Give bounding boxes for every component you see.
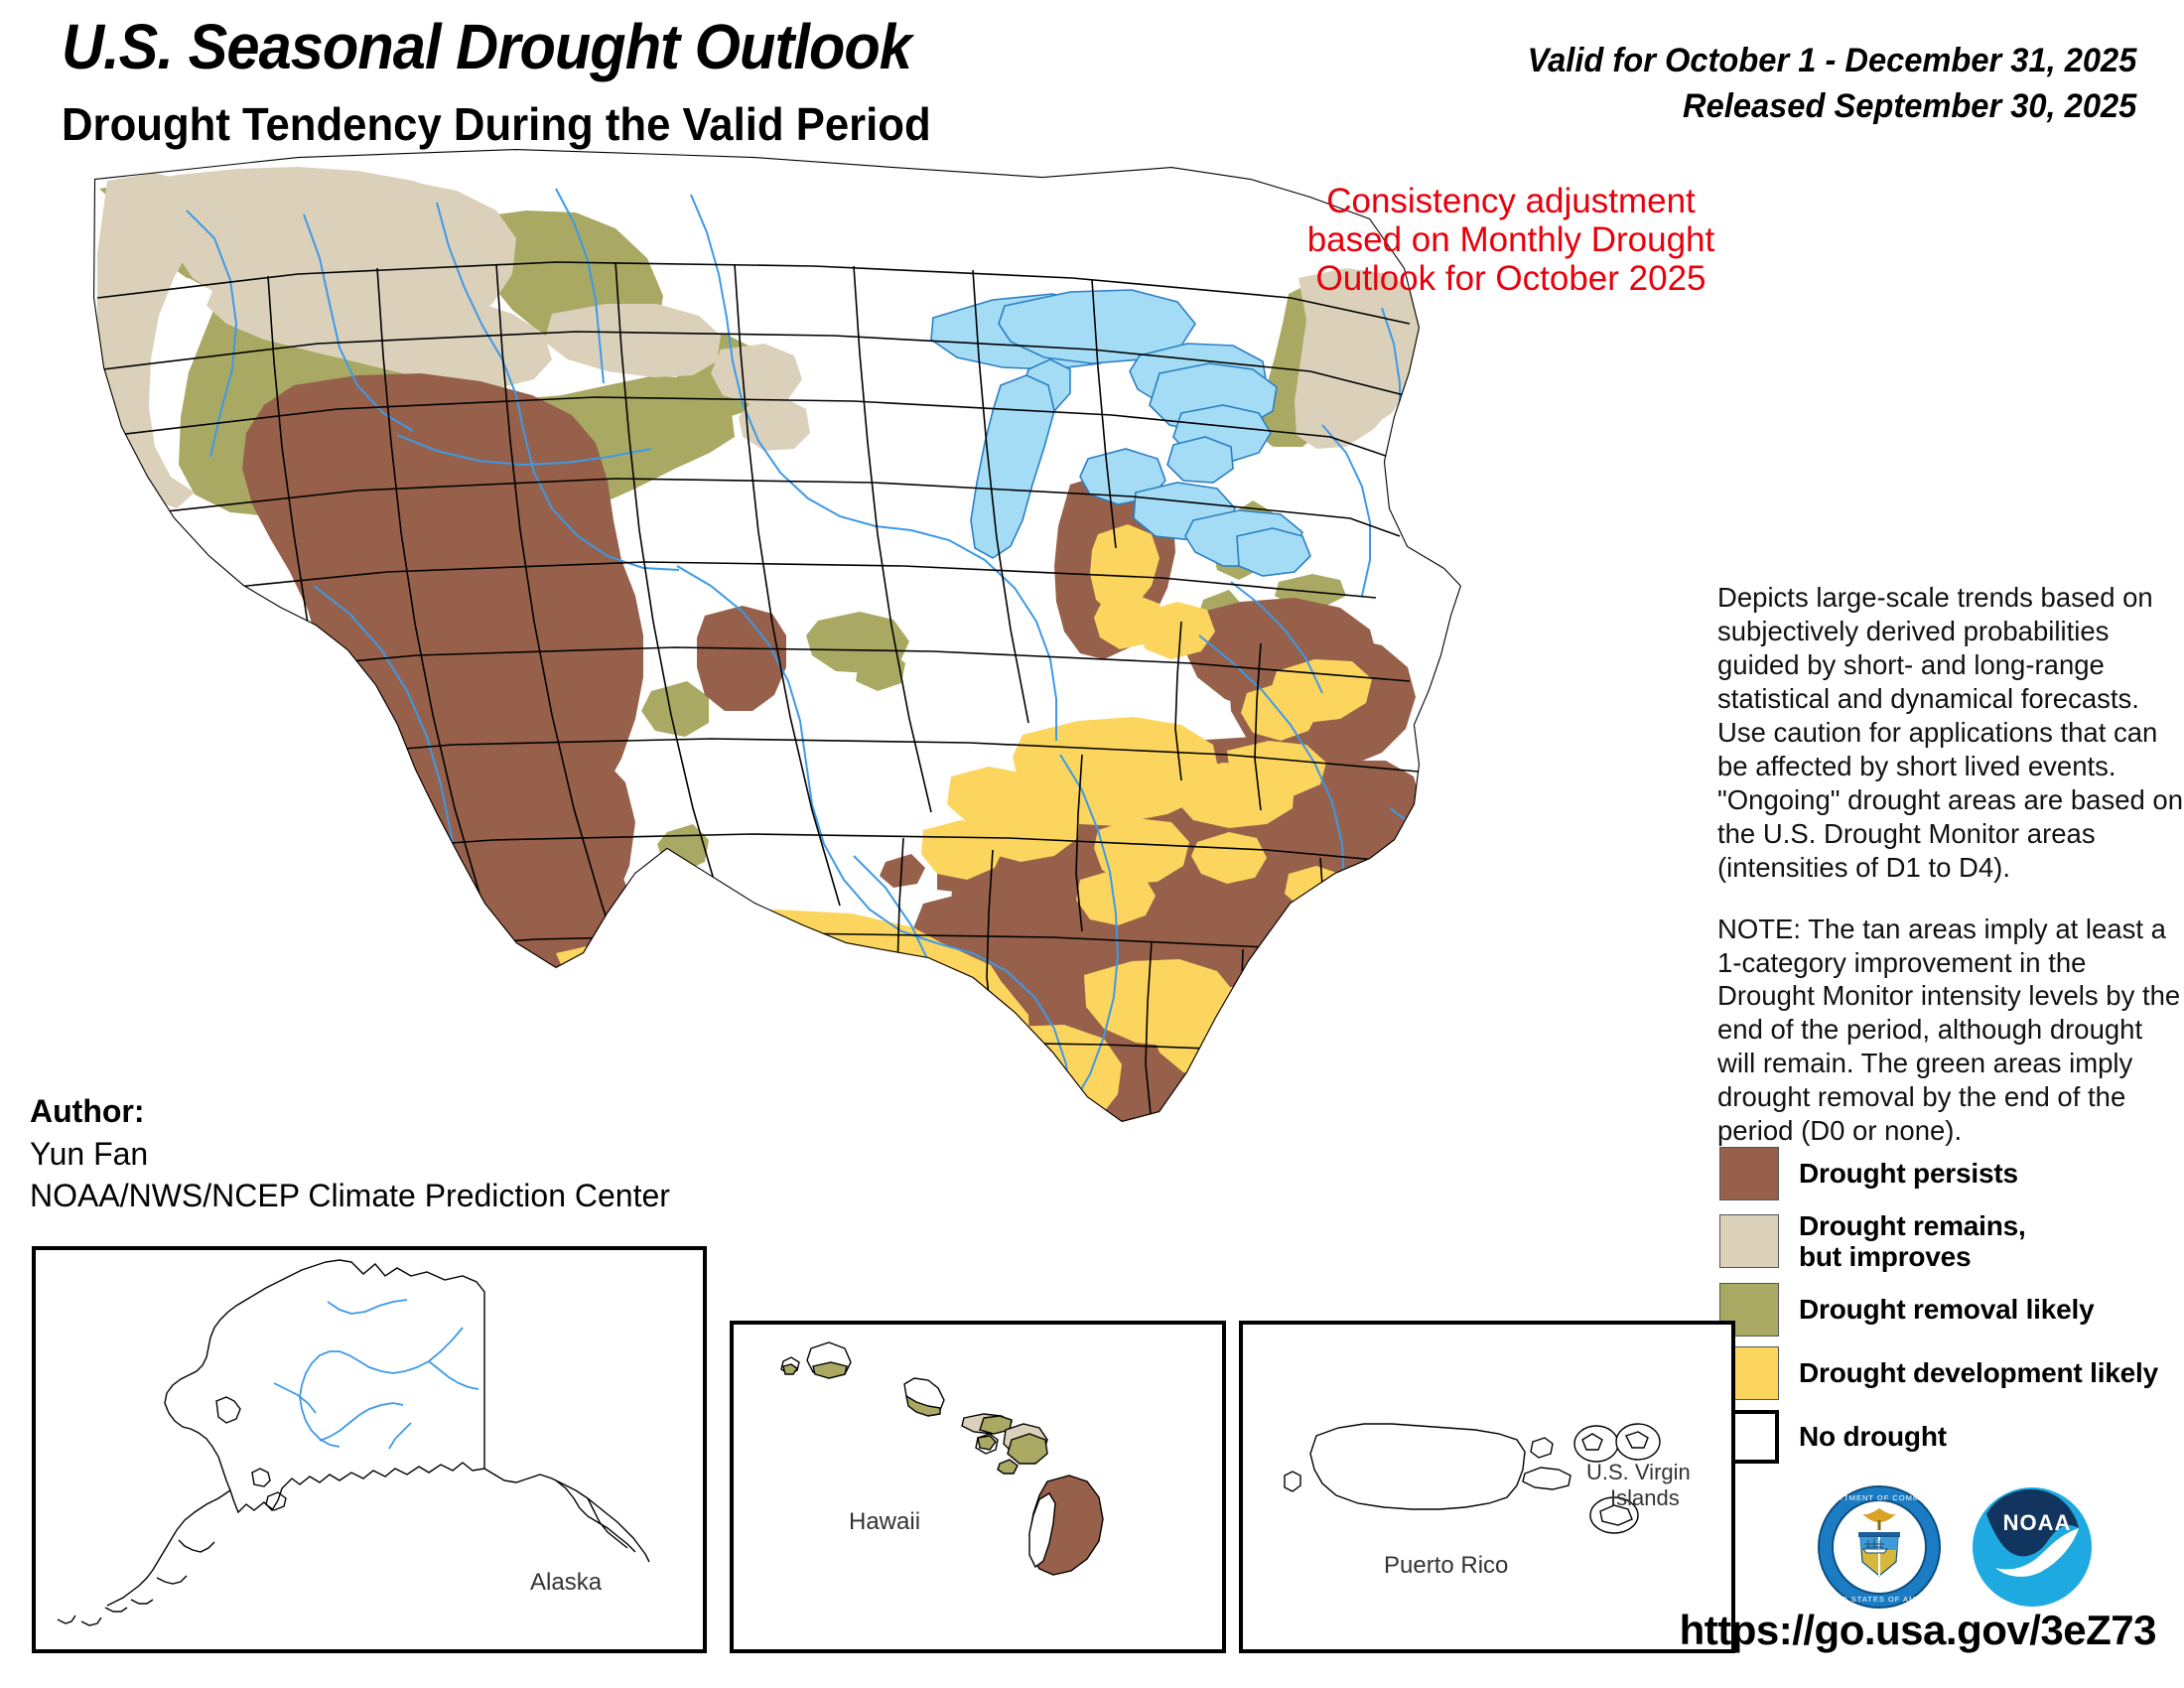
noaa-logo-text: NOAA [2003, 1510, 2072, 1535]
inset-label-usvi-line1: U.S. Virgin [1586, 1460, 1691, 1484]
author-block: Author: Yun Fan NOAA/NWS/NCEP Climate Pr… [30, 1090, 670, 1217]
description-paragraph-1: Depicts large-scale trends based on subj… [1717, 581, 2184, 885]
legend-item-improves: Drought remains, but improves [1719, 1210, 2176, 1273]
consistency-adjustment-note: Consistency adjustment based on Monthly … [1283, 182, 1739, 299]
valid-period: Valid for October 1 - December 31, 2025 [1527, 42, 2136, 80]
description-block: Depicts large-scale trends based on subj… [1717, 581, 2184, 1148]
page-title: U.S. Seasonal Drought Outlook [62, 10, 911, 83]
inset-map-hawaii: Hawaii [730, 1321, 1226, 1653]
legend-item-development: Drought development likely [1719, 1346, 2176, 1400]
inset-map-alaska: Alaska [32, 1246, 707, 1653]
legend-label-none: No drought [1799, 1421, 1947, 1452]
inset-label-puerto-rico: Puerto Rico [1384, 1552, 1508, 1579]
legend-item-none: No drought [1719, 1410, 2176, 1464]
inset-label-usvi-line2: Islands [1610, 1485, 1680, 1510]
inset-label-alaska: Alaska [530, 1569, 603, 1596]
svg-text:UNITED STATES OF AMERICA: UNITED STATES OF AMERICA [1817, 1595, 1942, 1604]
legend-label-development: Drought development likely [1799, 1357, 2158, 1388]
inset-map-puerto-rico: Puerto Rico U.S. Virgin Islands [1239, 1321, 1735, 1653]
svg-text:DEPARTMENT OF COMMERCE: DEPARTMENT OF COMMERCE [1817, 1493, 1942, 1502]
legend-label-persists: Drought persists [1799, 1158, 2018, 1189]
legend: Drought persists Drought remains, but im… [1719, 1147, 2176, 1474]
legend-item-removal: Drought removal likely [1719, 1283, 2176, 1336]
inset-label-hawaii: Hawaii [849, 1508, 920, 1535]
noaa-logo-icon: NOAA [1970, 1484, 2095, 1610]
author-name: Yun Fan [30, 1133, 670, 1176]
legend-swatch-improves [1719, 1214, 1779, 1268]
legend-label-improves: Drought remains, but improves [1799, 1210, 2026, 1273]
source-url[interactable]: https://go.usa.gov/3eZ73 [1680, 1607, 2156, 1654]
release-date: Released September 30, 2025 [1683, 87, 2136, 126]
description-paragraph-2: NOTE: The tan areas imply at least a 1-c… [1717, 913, 2184, 1149]
author-heading: Author: [30, 1090, 670, 1133]
agency-logos: DEPARTMENT OF COMMERCE UNITED STATES OF … [1817, 1484, 2095, 1610]
legend-label-removal: Drought removal likely [1799, 1294, 2094, 1325]
author-affiliation: NOAA/NWS/NCEP Climate Prediction Center [30, 1175, 670, 1217]
department-of-commerce-seal-icon: DEPARTMENT OF COMMERCE UNITED STATES OF … [1817, 1484, 1942, 1610]
legend-item-persists: Drought persists [1719, 1147, 2176, 1200]
legend-swatch-persists [1719, 1147, 1779, 1200]
